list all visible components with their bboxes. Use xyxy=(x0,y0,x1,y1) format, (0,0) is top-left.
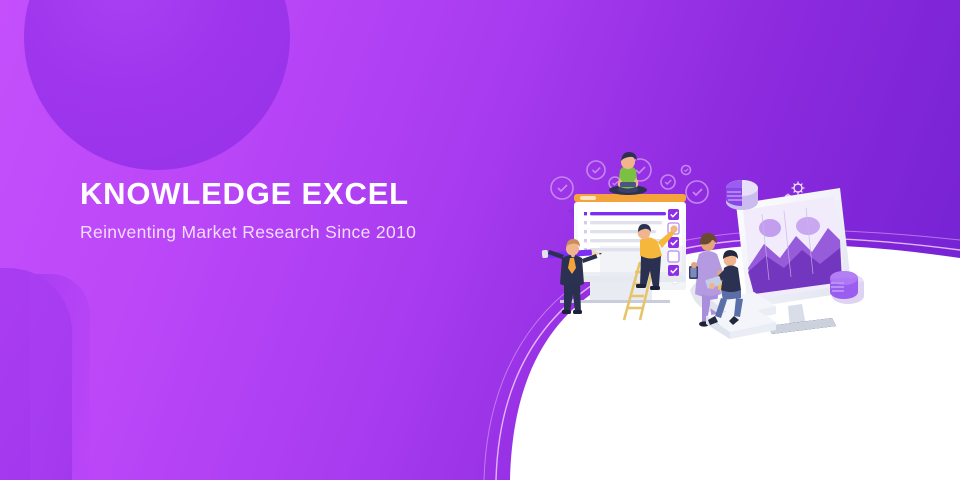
analyst-monitor xyxy=(705,182,852,340)
checkbox-group[interactable] xyxy=(668,209,679,276)
page-subtitle: Reinventing Market Research Since 2010 xyxy=(80,222,416,243)
banner-text-block: KNOWLEDGE EXCEL Reinventing Market Resea… xyxy=(80,178,416,243)
pie-chart-3d-icon xyxy=(726,180,758,210)
page-title: KNOWLEDGE EXCEL xyxy=(80,178,416,211)
cylinder-chart-3d-icon xyxy=(830,271,864,304)
business-analytics-illustration xyxy=(540,140,940,360)
hero-banner: KNOWLEDGE EXCEL Reinventing Market Resea… xyxy=(0,0,960,480)
